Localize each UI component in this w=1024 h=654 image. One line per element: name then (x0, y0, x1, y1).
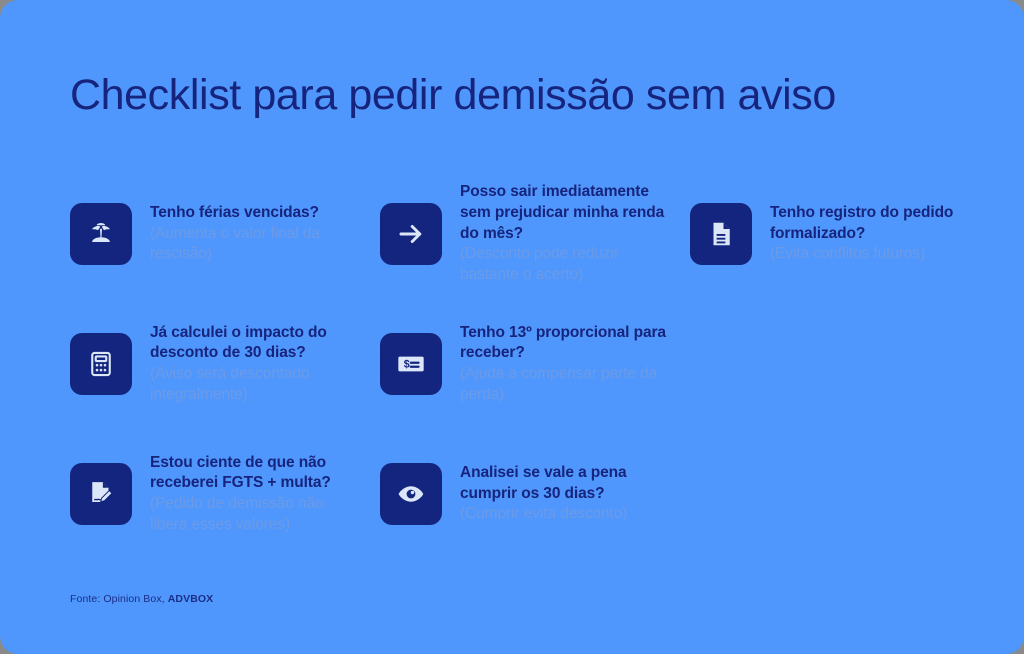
grid-spacer (690, 308, 970, 420)
checklist-item-title: Tenho férias vencidas? (150, 203, 360, 224)
checklist-item: Estou ciente de que não receberei FGTS +… (70, 438, 380, 550)
checklist-item-text: Tenho registro do pedido formalizado? (E… (770, 203, 970, 265)
checklist-item-subtitle: (Desconto pode reduzir bastante o acerto… (460, 244, 670, 285)
checklist-item-title: Tenho 13º proporcional para receber? (460, 323, 670, 364)
checklist-item-title: Tenho registro do pedido formalizado? (770, 203, 970, 244)
checklist-item-subtitle: (Aumenta o valor final da rescisão) (150, 224, 360, 265)
checklist-item-title: Estou ciente de que não receberei FGTS +… (150, 453, 360, 494)
checklist-item: Tenho registro do pedido formalizado? (E… (690, 178, 970, 290)
checklist-item-title: Posso sair imediatamente sem prejudicar … (460, 182, 670, 244)
document-signature-icon (70, 463, 132, 525)
grid-spacer (690, 438, 970, 550)
checklist-item-text: Já calculei o impacto do desconto de 30 … (150, 323, 360, 405)
checklist-item: $ Tenho 13º proporcional para receber? (… (380, 308, 690, 420)
arrow-right-icon (380, 203, 442, 265)
checklist-item-title: Analisei se vale a pena cumprir os 30 di… (460, 463, 670, 504)
checklist-item-text: Tenho férias vencidas? (Aumenta o valor … (150, 203, 360, 265)
checklist-item-subtitle: (Ajuda a compensar parte da perda) (460, 364, 670, 405)
checklist-item: Analisei se vale a pena cumprir os 30 di… (380, 438, 690, 550)
money-check-icon: $ (380, 333, 442, 395)
checklist-item-text: Posso sair imediatamente sem prejudicar … (460, 182, 670, 285)
checklist-item: Já calculei o impacto do desconto de 30 … (70, 308, 380, 420)
svg-text:$: $ (404, 358, 410, 370)
checklist-grid: Tenho férias vencidas? (Aumenta o valor … (70, 178, 970, 550)
checklist-item: Posso sair imediatamente sem prejudicar … (380, 178, 690, 290)
page-title: Checklist para pedir demissão sem aviso (70, 72, 836, 119)
source-prefix: Fonte: Opinion Box, (70, 593, 168, 605)
checklist-item-subtitle: (Evita conflitos futuros) (770, 244, 970, 265)
palm-tree-island-icon (70, 203, 132, 265)
checklist-item-text: Estou ciente de que não receberei FGTS +… (150, 453, 360, 535)
source-footer: Fonte: Opinion Box, ADVBOX (70, 593, 213, 605)
calculator-icon (70, 333, 132, 395)
checklist-item-text: Analisei se vale a pena cumprir os 30 di… (460, 463, 670, 525)
checklist-item: Tenho férias vencidas? (Aumenta o valor … (70, 178, 380, 290)
infographic-canvas: Checklist para pedir demissão sem aviso … (0, 0, 1024, 654)
brand-name: ADVBOX (168, 593, 214, 605)
eye-icon (380, 463, 442, 525)
document-lines-icon (690, 203, 752, 265)
checklist-item-title: Já calculei o impacto do desconto de 30 … (150, 323, 360, 364)
checklist-item-text: Tenho 13º proporcional para receber? (Aj… (460, 323, 670, 405)
checklist-item-subtitle: (Aviso será descontado integralmente) (150, 364, 360, 405)
checklist-item-subtitle: (Pedido de demissão não libera esses val… (150, 494, 360, 535)
checklist-item-subtitle: (Cumprir evita desconto) (460, 504, 670, 525)
